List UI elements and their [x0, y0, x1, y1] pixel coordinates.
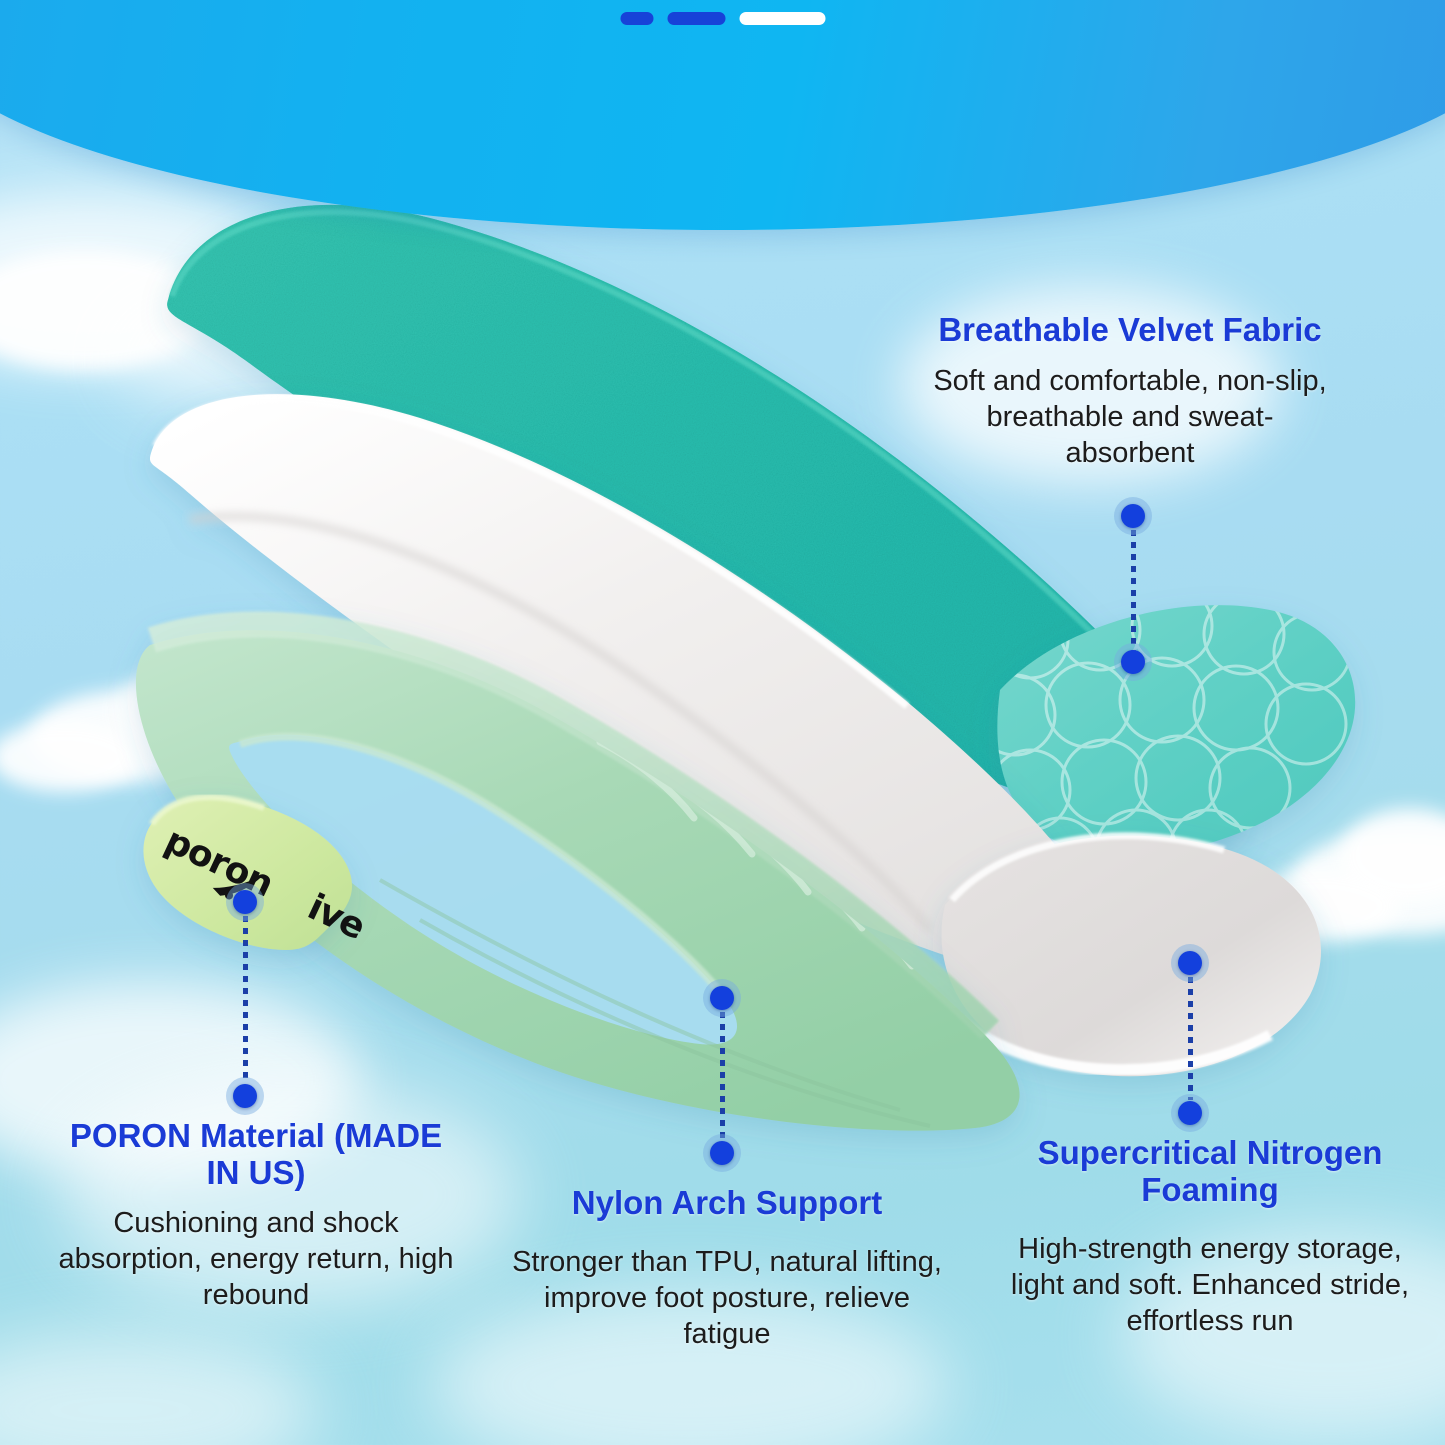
dash-medium-icon [667, 12, 725, 25]
marker-poron-bottom [226, 1077, 264, 1115]
callout-body: Cushioning and shock absorption, energy … [56, 1205, 456, 1314]
marker-velvet-top [1114, 497, 1152, 535]
connector-line-velvet [1131, 530, 1136, 652]
marker-foam-top [1171, 944, 1209, 982]
marker-nylon-top [703, 979, 741, 1017]
connector-line-poron [243, 916, 248, 1084]
callout-supercritical-nitrogen-foaming: Supercritical Nitrogen Foaming High-stre… [1000, 1135, 1420, 1340]
marker-nylon-bottom [703, 1134, 741, 1172]
foam-heel-pad [942, 836, 1321, 1077]
marker-velvet-bottom [1114, 643, 1152, 681]
dash-long-icon [739, 12, 825, 25]
marker-foam-bottom [1171, 1094, 1209, 1132]
callout-body: Stronger than TPU, natural lifting, impr… [512, 1244, 942, 1353]
callout-title: Breathable Velvet Fabric [930, 312, 1330, 349]
dash-short-icon [620, 12, 653, 25]
callout-nylon-arch-support: Nylon Arch Support Stronger than TPU, na… [512, 1185, 942, 1353]
callout-poron-material: PORON Material (MADE IN US) Cushioning a… [56, 1118, 456, 1314]
callout-title: Supercritical Nitrogen Foaming [1000, 1135, 1420, 1209]
callout-title: Nylon Arch Support [512, 1185, 942, 1222]
callout-breathable-velvet-fabric: Breathable Velvet Fabric Soft and comfor… [930, 312, 1330, 472]
header-banner: Why Choose Us? [0, 0, 1445, 230]
connector-line-nylon [720, 1012, 725, 1140]
decorative-dash-group [620, 12, 825, 25]
connector-line-foam [1188, 977, 1193, 1100]
callout-body: Soft and comfortable, non-slip, breathab… [930, 363, 1330, 472]
callout-title: PORON Material (MADE IN US) [56, 1118, 456, 1192]
marker-poron-top [226, 883, 264, 921]
callout-body: High-strength energy storage, light and … [1000, 1231, 1420, 1340]
